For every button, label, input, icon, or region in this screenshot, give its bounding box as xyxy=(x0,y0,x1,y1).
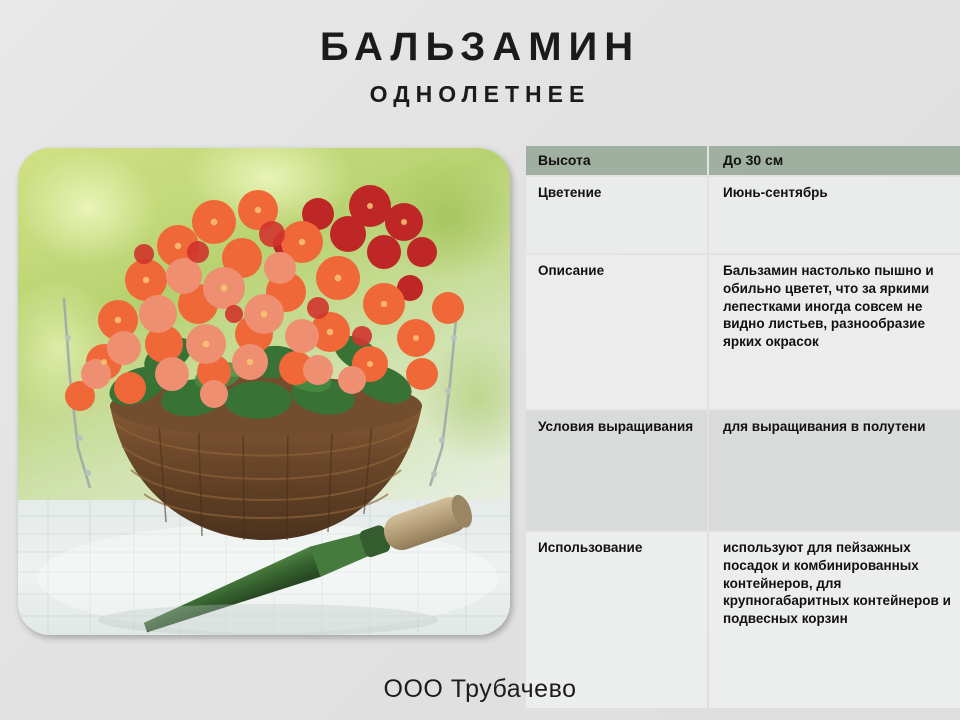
row-value-bloom: Июнь-сентябрь xyxy=(709,177,960,253)
slide-canvas: БАЛЬЗАМИН ОДНОЛЕТНЕЕ xyxy=(0,0,960,720)
plant-photo-illustration xyxy=(18,148,510,635)
row-value-conditions: для выращивания в полутени xyxy=(709,411,960,530)
table-row-header: Высота До 30 см xyxy=(526,146,960,175)
row-label-bloom: Цветение xyxy=(526,177,707,253)
table-row-description: Описание Бальзамин настолько пышно и оби… xyxy=(526,255,960,409)
footer-company-name: ООО Трубачево xyxy=(0,675,960,704)
plant-photo xyxy=(18,148,510,635)
row-label-description: Описание xyxy=(526,255,707,409)
row-value-height: До 30 см xyxy=(709,146,960,175)
row-label-conditions: Условия выращивания xyxy=(526,411,707,530)
page-title: БАЛЬЗАМИН xyxy=(0,24,960,70)
table-row-conditions: Условия выращивания для выращивания в по… xyxy=(526,411,960,530)
page-subtitle: ОДНОЛЕТНЕЕ xyxy=(0,81,960,108)
row-label-height: Высота xyxy=(526,146,707,175)
plant-info-table: Высота До 30 см Цветение Июнь-сентябрь О… xyxy=(524,144,960,710)
table-row-bloom: Цветение Июнь-сентябрь xyxy=(526,177,960,253)
row-value-description: Бальзамин настолько пышно и обильно цвет… xyxy=(709,255,960,409)
